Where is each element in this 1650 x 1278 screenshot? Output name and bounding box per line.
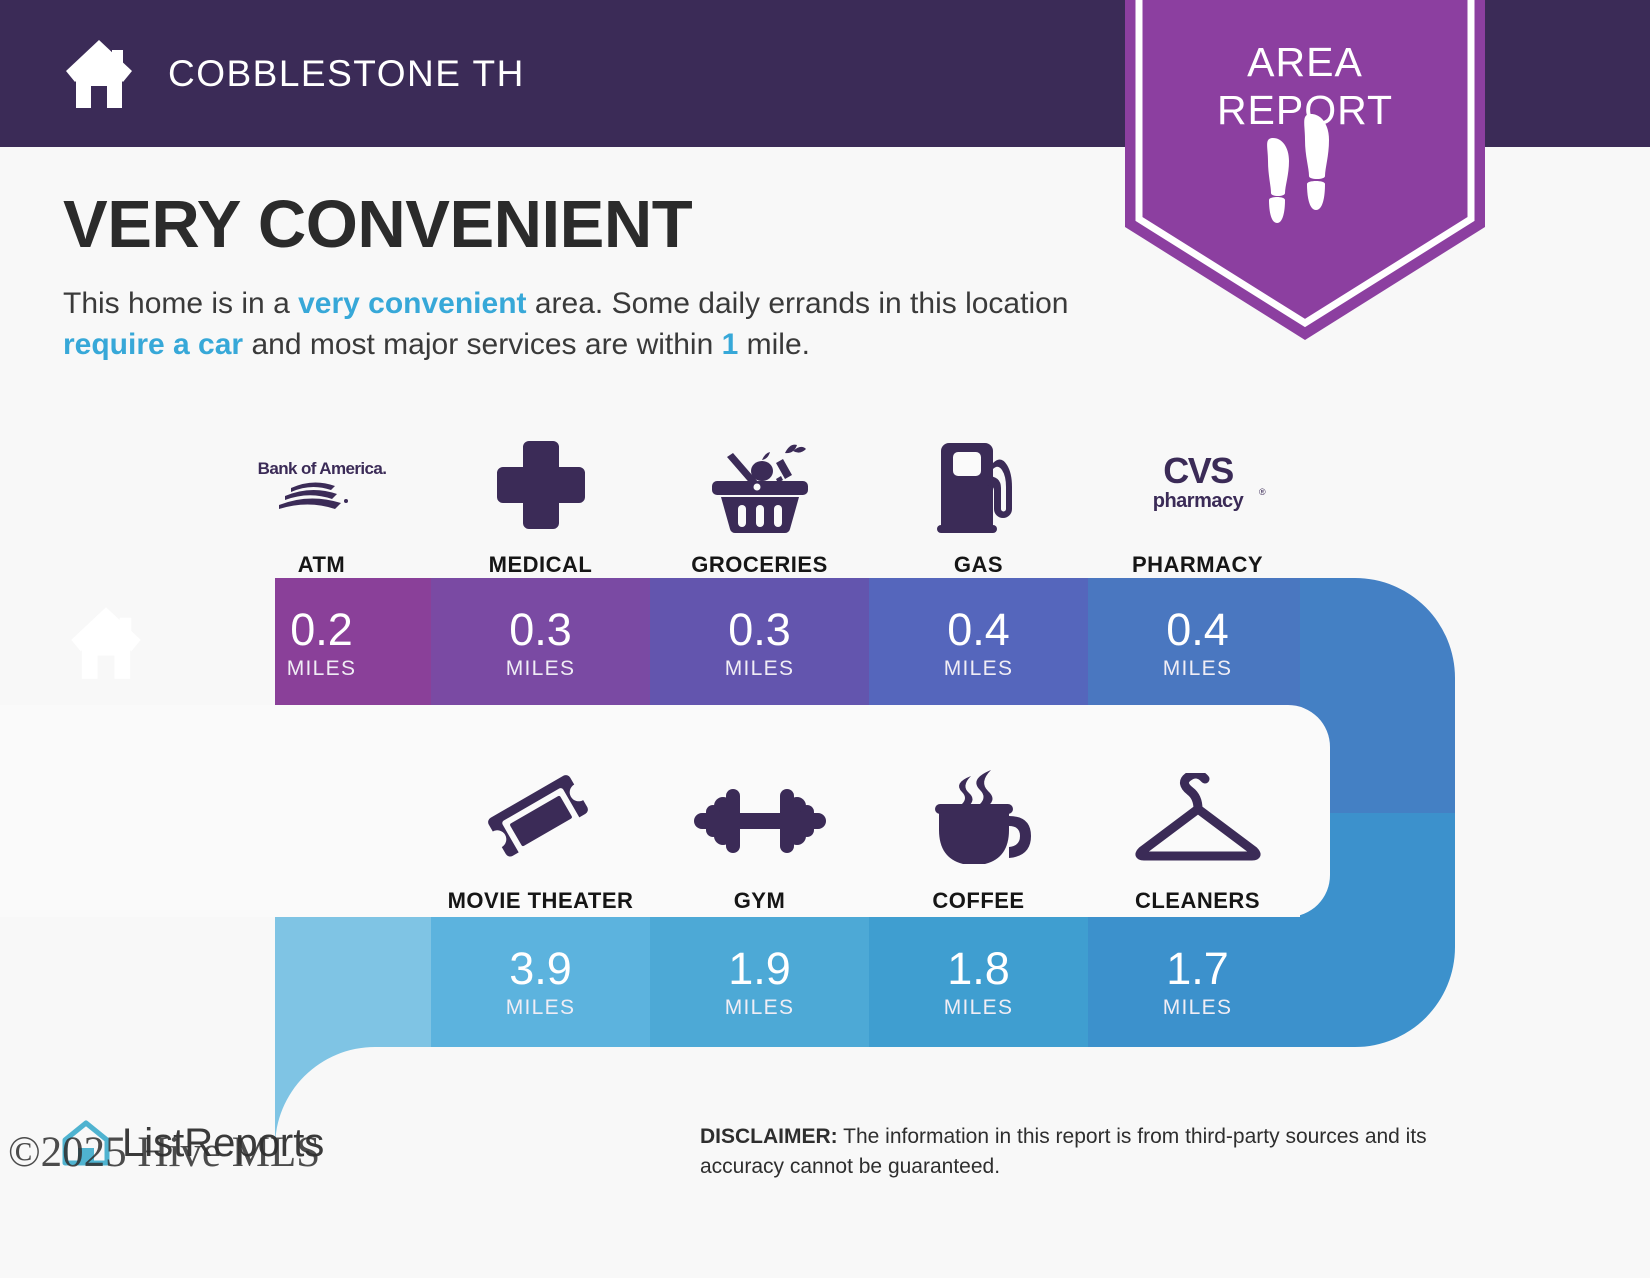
amenity-label: GAS bbox=[954, 552, 1003, 578]
coffee-cup-icon bbox=[925, 762, 1033, 880]
amenity-label: COFFEE bbox=[932, 888, 1024, 914]
distance-cleaners: 1.7 MILES bbox=[1088, 917, 1307, 1047]
amenity-gas: GAS bbox=[869, 408, 1088, 578]
row1-spacer bbox=[0, 408, 212, 578]
cvs-pharmacy-logo-icon: CVS pharmacy ® bbox=[1128, 426, 1268, 544]
hero-highlight-2: require a car bbox=[63, 328, 243, 361]
dumbbell-icon bbox=[692, 762, 828, 880]
amenity-label: MOVIE THEATER bbox=[448, 888, 634, 914]
amenity-label: GROCERIES bbox=[691, 552, 828, 578]
distance-value: 0.3 bbox=[509, 605, 572, 655]
distance-value: 3.9 bbox=[509, 944, 572, 994]
row2-spacer bbox=[0, 742, 431, 914]
distance-groceries: 0.3 MILES bbox=[650, 578, 869, 708]
distance-movie-theater: 3.9 MILES bbox=[431, 917, 650, 1047]
row1-distances: 0.2 MILES 0.3 MILES 0.3 MILES 0.4 MILES … bbox=[0, 578, 1650, 708]
row2-distances: 3.9 MILES 1.9 MILES 1.8 MILES 1.7 MILES bbox=[0, 917, 1650, 1047]
distance-value: 1.7 bbox=[1166, 944, 1229, 994]
distance-unit: MILES bbox=[1163, 657, 1233, 681]
home-icon bbox=[60, 38, 138, 110]
distance-unit: MILES bbox=[944, 657, 1014, 681]
disclaimer-label: DISCLAIMER: bbox=[700, 1125, 838, 1148]
medical-cross-icon bbox=[493, 426, 589, 544]
bank-of-america-logo-icon: Bank of America. bbox=[257, 426, 387, 544]
distance-medical: 0.3 MILES bbox=[431, 578, 650, 708]
distance-value: 0.2 bbox=[290, 605, 353, 655]
distance-atm: 0.2 MILES bbox=[212, 578, 431, 708]
distance-unit: MILES bbox=[1163, 996, 1233, 1020]
hero-highlight-1: very convenient bbox=[298, 287, 526, 320]
row1-amenity-icons: Bank of America. ATM MEDICAL bbox=[0, 408, 1650, 578]
distance-value: 0.4 bbox=[1166, 605, 1229, 655]
amenity-coffee: COFFEE bbox=[869, 742, 1088, 914]
amenity-label: PHARMACY bbox=[1132, 552, 1263, 578]
amenity-cleaners: CLEANERS bbox=[1088, 742, 1307, 914]
mls-watermark: ©2025 Hive MLS bbox=[8, 1128, 320, 1177]
property-title: COBBLESTONE TH bbox=[168, 53, 525, 95]
svg-text:®: ® bbox=[1259, 487, 1266, 497]
hero-text-4: mile. bbox=[738, 328, 810, 361]
svg-text:pharmacy: pharmacy bbox=[1152, 490, 1244, 512]
distance-unit: MILES bbox=[506, 996, 576, 1020]
movie-ticket-icon bbox=[487, 762, 595, 880]
distance-unit: MILES bbox=[944, 996, 1014, 1020]
row2-amenity-icons: MOVIE THEATER GYM bbox=[0, 742, 1650, 914]
svg-text:CVS: CVS bbox=[1163, 450, 1233, 491]
hero-description: This home is in a very convenient area. … bbox=[63, 283, 1123, 365]
clothes-hanger-icon bbox=[1132, 762, 1264, 880]
distance-value: 1.9 bbox=[728, 944, 791, 994]
hero-section: VERY CONVENIENT This home is in a very c… bbox=[63, 185, 1123, 365]
distance-pharmacy: 0.4 MILES bbox=[1088, 578, 1307, 708]
amenity-gym: GYM bbox=[650, 742, 869, 914]
distance-value: 0.4 bbox=[947, 605, 1010, 655]
area-report-badge: AREA REPORT bbox=[1125, 0, 1485, 340]
distance-value: 1.8 bbox=[947, 944, 1010, 994]
amenity-label: MEDICAL bbox=[489, 552, 593, 578]
distance-unit: MILES bbox=[506, 657, 576, 681]
amenity-label: ATM bbox=[298, 552, 346, 578]
home-marker bbox=[0, 578, 212, 708]
amenity-atm: Bank of America. ATM bbox=[212, 408, 431, 578]
row2-dist-spacer bbox=[0, 917, 431, 1047]
distance-unit: MILES bbox=[725, 657, 795, 681]
page-title: VERY CONVENIENT bbox=[63, 185, 1123, 265]
hero-text-2: area. Some daily errands in this locatio… bbox=[527, 287, 1069, 320]
hero-text-1: This home is in a bbox=[63, 287, 298, 320]
distance-gas: 0.4 MILES bbox=[869, 578, 1088, 708]
home-icon bbox=[65, 605, 147, 681]
amenity-movie-theater: MOVIE THEATER bbox=[431, 742, 650, 914]
distance-gym: 1.9 MILES bbox=[650, 917, 869, 1047]
disclaimer: DISCLAIMER: The information in this repo… bbox=[700, 1122, 1510, 1182]
amenity-label: CLEANERS bbox=[1135, 888, 1260, 914]
distance-unit: MILES bbox=[287, 657, 357, 681]
svg-text:Bank of America.: Bank of America. bbox=[257, 459, 386, 478]
amenity-medical: MEDICAL bbox=[431, 408, 650, 578]
grocery-basket-icon bbox=[705, 426, 815, 544]
amenity-label: GYM bbox=[734, 888, 786, 914]
distance-coffee: 1.8 MILES bbox=[869, 917, 1088, 1047]
amenity-groceries: GROCERIES bbox=[650, 408, 869, 578]
amenity-pharmacy: CVS pharmacy ® PHARMACY bbox=[1088, 408, 1307, 578]
hero-highlight-3: 1 bbox=[722, 328, 739, 361]
hero-text-3: and most major services are within bbox=[243, 328, 722, 361]
gas-pump-icon bbox=[929, 426, 1029, 544]
distance-value: 0.3 bbox=[728, 605, 791, 655]
distance-unit: MILES bbox=[725, 996, 795, 1020]
